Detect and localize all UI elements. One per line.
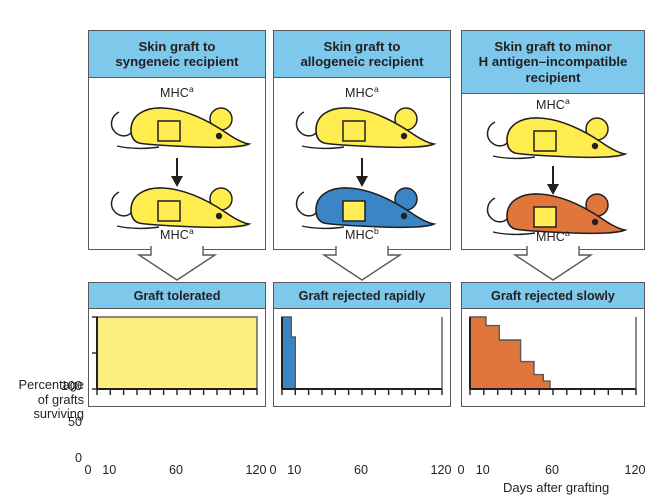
chart-syngeneic (89, 309, 265, 405)
mouse-donor-syngeneic (101, 102, 253, 158)
mouse-hind-leg-icon (117, 146, 159, 148)
panel-header-line-2: syngeneic recipient (115, 54, 238, 70)
chart1-x-tick-60: 60 (166, 463, 186, 477)
mouse-eye-icon (216, 213, 222, 219)
chart-box-syngeneic (88, 309, 266, 407)
mhc-label-donor-allogeneic: MHCa (274, 86, 450, 100)
chart3-x-tick-0: 0 (454, 463, 468, 477)
mouse-tail-icon (112, 112, 131, 136)
mouse-tail-icon (297, 192, 316, 216)
chart-box-allogeneic (273, 309, 451, 407)
flow-arrow-allogeneic (322, 246, 402, 282)
outcome-banner-syngeneic: Graft tolerated (88, 282, 266, 309)
chart2-x-tick-0: 0 (266, 463, 280, 477)
outcome-banner-allogeneic: Graft rejected rapidly (273, 282, 451, 309)
panel-header-line-1: Skin graft to (300, 39, 423, 55)
mouse-eye-icon (592, 143, 598, 149)
y-tick-100: 100 (52, 379, 82, 393)
chart-area-minor-h (470, 317, 550, 389)
y-tick-50: 50 (52, 415, 82, 429)
chart3-x-tick-10: 10 (473, 463, 493, 477)
chart-box-minor-h (461, 309, 645, 407)
graft-square-recipient-allogeneic (343, 201, 365, 221)
panel-header-minor-h: Skin graft to minor H antigen–incompatib… (461, 30, 645, 94)
chart1-x-tick-10: 10 (99, 463, 119, 477)
mouse-tail-icon (488, 198, 507, 222)
chart2-x-tick-10: 10 (284, 463, 304, 477)
panel-header-syngeneic: Skin graft to syngeneic recipient (88, 30, 266, 78)
mhc-label-donor-syngeneic: MHCa (89, 86, 265, 100)
mouse-hind-leg-icon (493, 156, 535, 158)
chart2-x-tick-120: 120 (427, 463, 455, 477)
mouse-tail-icon (297, 112, 316, 136)
mouse-diagram-minor-h: MHCa M (461, 94, 645, 250)
panel-header-line-1: Skin graft to minor (479, 39, 628, 55)
chart2-x-tick-60: 60 (351, 463, 371, 477)
mouse-hind-leg-icon (302, 146, 344, 148)
figure-root: Skin graft to syngeneic recipient MHCa (0, 0, 662, 488)
flow-arrow-minor-h (513, 246, 593, 282)
mhc-label-donor-minor-h: MHCa (462, 98, 644, 112)
y-axis-label-line-2: of grafts (0, 393, 84, 408)
mouse-eye-icon (592, 219, 598, 225)
chart-minor-h (462, 309, 644, 405)
mouse-tail-icon (112, 192, 131, 216)
panel-header-allogeneic: Skin graft to allogeneic recipient (273, 30, 451, 78)
graft-square-recipient-minor-h (534, 207, 556, 227)
mouse-eye-icon (401, 133, 407, 139)
mhc-label-recipient-allogeneic: MHCb (274, 228, 450, 242)
mouse-eye-icon (216, 133, 222, 139)
mhc-label-recipient-syngeneic: MHCa (89, 228, 265, 242)
mouse-donor-allogeneic (286, 102, 438, 158)
panel-header-line-2: allogeneic recipient (300, 54, 423, 70)
chart1-x-tick-0: 0 (81, 463, 95, 477)
y-tick-0: 0 (52, 451, 82, 465)
panel-header-line-2: H antigen–incompatible (479, 54, 628, 70)
mouse-tail-icon (488, 122, 507, 146)
chart3-x-tick-120: 120 (621, 463, 649, 477)
panel-header-line-3: recipient (479, 70, 628, 86)
chart-allogeneic (274, 309, 450, 405)
chart-area-allogeneic (282, 317, 295, 389)
panel-header-line-1: Skin graft to (115, 39, 238, 55)
mouse-donor-minor-h (475, 112, 631, 168)
mouse-eye-icon (401, 213, 407, 219)
chart-area-syngeneic (97, 317, 257, 389)
flow-arrow-syngeneic (137, 246, 217, 282)
mouse-diagram-allogeneic: MHCa M (273, 78, 451, 250)
mouse-diagram-syngeneic: MHCa M (88, 78, 266, 250)
outcome-banner-minor-h: Graft rejected slowly (461, 282, 645, 309)
chart3-x-tick-60: 60 (542, 463, 562, 477)
mhc-label-recipient-minor-h: MHCa (462, 230, 644, 244)
